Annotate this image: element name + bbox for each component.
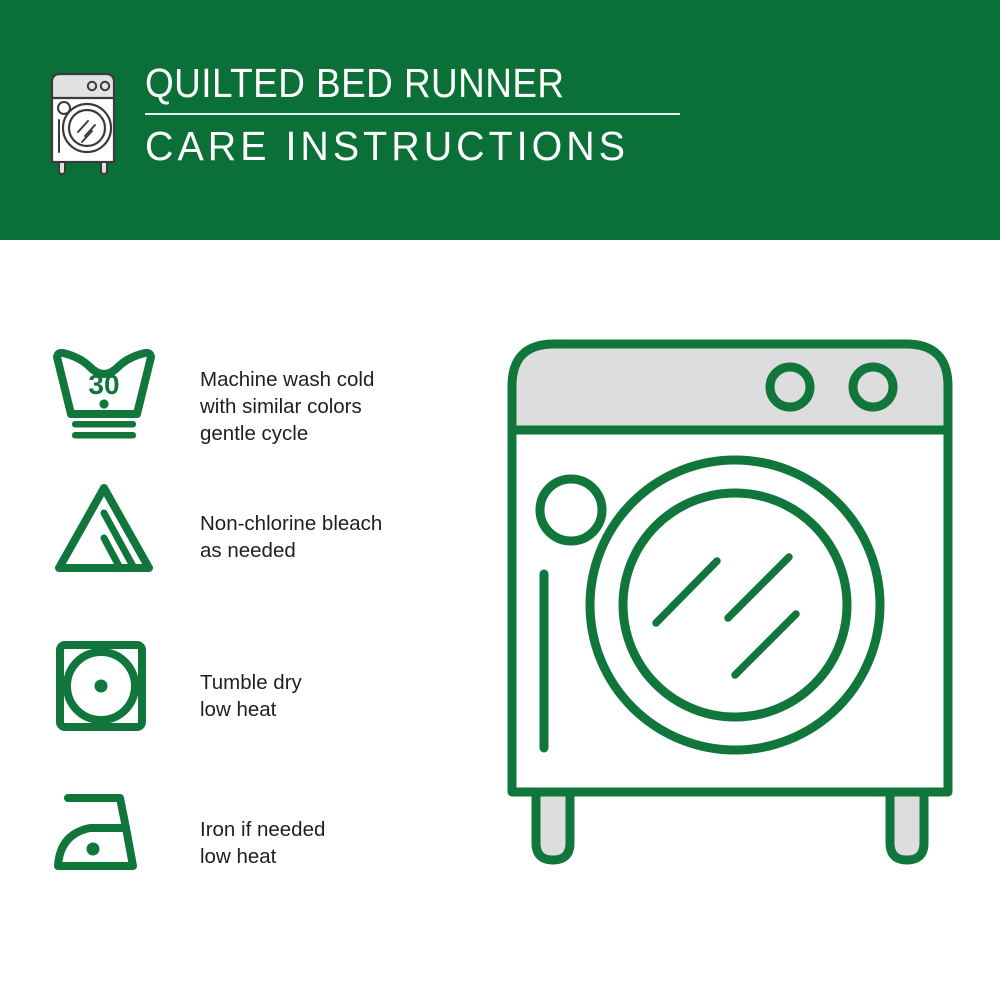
wash-temperature-label: 30 [88, 369, 119, 400]
page-title-primary: QUILTED BED RUNNER [145, 60, 775, 106]
leg-left [536, 792, 570, 860]
title-divider [145, 113, 680, 115]
header-title-block: QUILTED BED RUNNER CARE INSTRUCTIONS [145, 60, 845, 169]
care-text-wash: Machine wash cold with similar colors ge… [200, 366, 374, 447]
bleach-triangle-icon [52, 480, 157, 580]
header-banner: QUILTED BED RUNNER CARE INSTRUCTIONS [0, 0, 1000, 240]
care-text-tumble-dry: Tumble dry low heat [200, 669, 302, 723]
care-text-iron: Iron if needed low heat [200, 816, 325, 870]
page-title-secondary: CARE INSTRUCTIONS [145, 123, 817, 169]
care-instruction-list: 30 Machine wash cold with similar colors… [0, 240, 470, 1000]
leg-right [890, 792, 924, 860]
iron-icon [52, 788, 157, 888]
tumble-dry-icon [52, 638, 157, 738]
washing-machine-icon [44, 66, 128, 178]
washing-machine-illustration [490, 330, 970, 930]
control-panel [512, 344, 948, 430]
care-text-bleach: Non-chlorine bleach as needed [200, 510, 382, 564]
wash-basin-icon: 30 [52, 348, 157, 448]
care-instructions-page: QUILTED BED RUNNER CARE INSTRUCTIONS 30 [0, 0, 1000, 1000]
